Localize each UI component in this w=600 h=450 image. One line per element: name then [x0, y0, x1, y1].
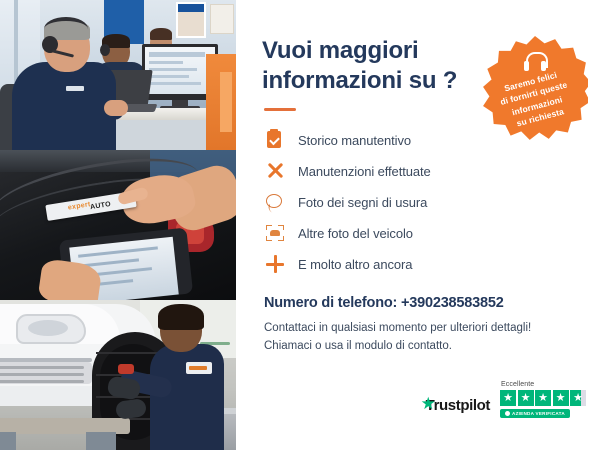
wall-poster-inner — [178, 12, 204, 36]
car-grille — [0, 362, 92, 384]
lift-support-right — [86, 432, 116, 450]
monitor-screen — [145, 47, 215, 94]
lift-support-left — [0, 432, 16, 450]
headline-line-1: Vuoi maggiori — [262, 37, 419, 64]
agent-1-shirt-logo — [66, 86, 84, 91]
wall-notice — [210, 4, 234, 34]
feature-label: Storico manutentivo — [298, 133, 411, 148]
mechanic-uniform-badge — [186, 362, 212, 374]
star-rating: ★ ★ ★ ★ ★ — [500, 390, 586, 406]
verified-label: AZIENDA VERIFICATA — [512, 411, 565, 416]
star-filled-2: ★ — [518, 390, 534, 406]
contact-instructions: Contattaci in qualsiasi momento per ulte… — [264, 320, 578, 356]
feature-label: Altre foto del veicolo — [298, 226, 413, 241]
star-filled-3: ★ — [535, 390, 551, 406]
feature-item-molto-altro: E molto altro ancora — [264, 249, 578, 279]
page-title: Vuoi maggiori informazioni su ? — [262, 36, 472, 96]
clipboard-check-icon — [264, 129, 286, 151]
trustpilot-logo: Trustpilot — [422, 397, 490, 418]
headlight-inner — [28, 320, 68, 336]
star-filled-4: ★ — [553, 390, 569, 406]
trustpilot-rating: Eccellente ★ ★ ★ ★ ★ AZIENDA VERIFICATA — [500, 381, 586, 418]
trustpilot-widget[interactable]: Trustpilot Eccellente ★ ★ ★ ★ ★ AZIENDA … — [422, 381, 586, 418]
agent-3-hair — [150, 28, 172, 40]
tools-cross-icon — [264, 160, 286, 182]
plus-icon — [264, 253, 286, 275]
agent-1-hand — [104, 100, 128, 116]
content-panel: Vuoi maggiori informazioni su ? Saremo f… — [236, 0, 600, 450]
verified-business-badge: AZIENDA VERIFICATA — [500, 409, 570, 418]
scan-vehicle-icon — [264, 222, 286, 244]
star-filled-1: ★ — [500, 390, 516, 406]
title-divider — [264, 108, 296, 111]
sticker-suffix: expert — [68, 201, 92, 211]
feature-list: Storico manutentivo Manutenzioni effettu… — [264, 125, 578, 279]
agent-2-headset-earcup — [100, 44, 110, 56]
contact-line-1: Contattaci in qualsiasi momento per ulte… — [264, 320, 578, 338]
phone-number-line[interactable]: Numero di telefono: +390238583852 — [264, 295, 578, 311]
magnifier-icon — [264, 191, 286, 213]
contact-line-2: Chiamaci o usa il modulo di contatto. — [264, 338, 578, 356]
rating-label: Eccellente — [501, 381, 534, 388]
feature-item-manutenzioni-effettuate: Manutenzioni effettuate — [264, 156, 578, 186]
inspection-tool — [118, 364, 134, 374]
photo-call-center-agents-with-headsets — [0, 0, 236, 150]
callout-badge-text: Saremo felici di fornirti queste informa… — [495, 67, 574, 132]
mechanic-hair — [158, 304, 204, 330]
photo-column: AUTOexpert — [0, 0, 236, 450]
promo-banner: AUTOexpert — [0, 0, 600, 450]
feature-item-foto-segni-usura: Foto dei segni di usura — [264, 187, 578, 217]
feature-label: Foto dei segni di usura — [298, 195, 427, 210]
orange-panel-highlight — [220, 72, 232, 132]
photo-mechanic-inspecting-wheel — [0, 300, 236, 450]
headset-icon — [524, 52, 546, 72]
star-partial-5: ★ — [570, 390, 586, 406]
feature-label: Manutenzioni effettuate — [298, 164, 431, 179]
feature-item-altre-foto-veicolo: Altre foto del veicolo — [264, 218, 578, 248]
headline-line-2: informazioni su ? — [262, 67, 457, 94]
check-icon — [505, 411, 510, 416]
sticker-prefix: AUTO — [90, 201, 112, 211]
photo-technician-applying-label-to-car: AUTOexpert — [0, 150, 236, 300]
feature-label: E molto altro ancora — [298, 257, 412, 272]
